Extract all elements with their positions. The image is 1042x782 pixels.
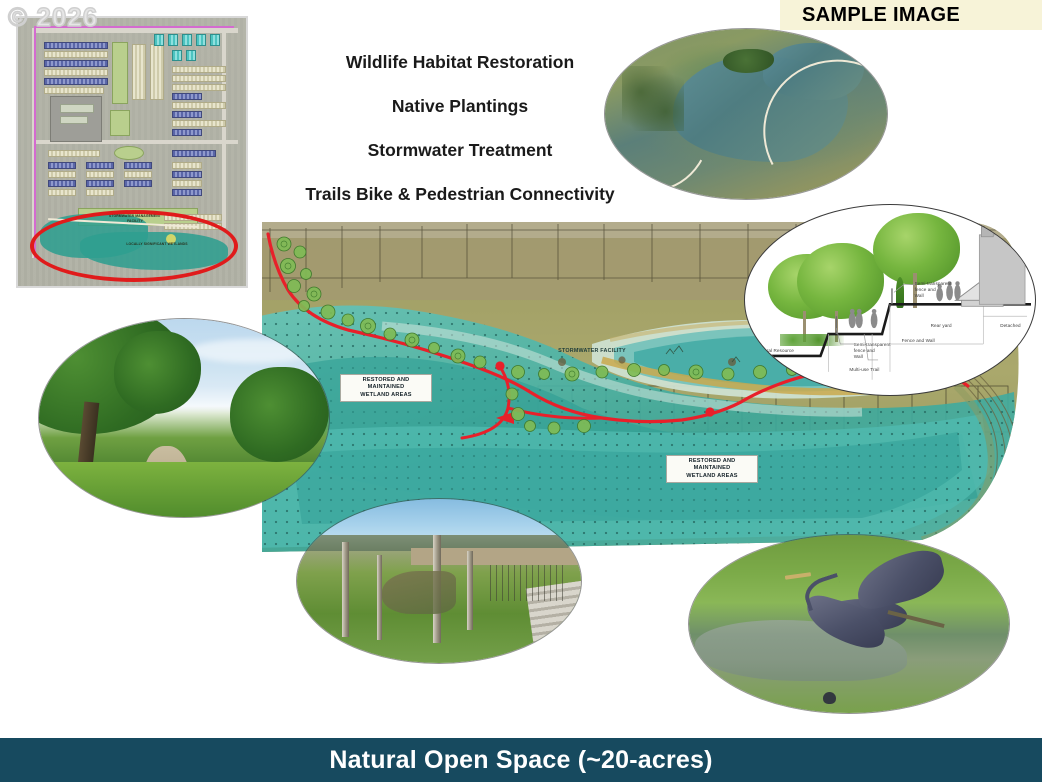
section-label-natural-resource: Natural Resource (757, 348, 794, 354)
inset-housing-row (172, 111, 202, 118)
inset-housing-row (44, 87, 104, 94)
heron-wing-upper (851, 546, 949, 613)
snags-swale (382, 571, 456, 614)
inset-housing-row (150, 44, 164, 100)
oak-photo-content (39, 319, 329, 517)
heron-beak (785, 572, 811, 580)
inset-housing-row (44, 69, 108, 76)
inset-housing-row (172, 120, 226, 127)
inset-open-green (112, 42, 128, 104)
inset-housing-row (44, 51, 108, 58)
inset-housing-row (86, 162, 114, 169)
slide-root: RESTORED AND MAINTAINED WETLAND AREAS ST… (0, 0, 1042, 782)
inset-highlight-ellipse (30, 210, 238, 282)
inset-housing-row (172, 189, 202, 196)
inset-housing-row (86, 180, 114, 187)
inset-housing-row (48, 171, 76, 178)
inset-housing-row (172, 150, 216, 157)
inset-housing-row (172, 50, 182, 61)
section-grade-profile (745, 205, 1035, 396)
plan-label-wetland-east: RESTORED AND MAINTAINED WETLAND AREAS (666, 455, 758, 483)
inset-housing-row (172, 66, 226, 73)
oak-meadow-grass (39, 462, 329, 518)
section-label-semi-transparent-fence-lower: Semi-transparent fence and Wall (854, 342, 891, 360)
plan-label-stormwater-facility: STORMWATER FACILITY (544, 346, 640, 356)
inset-housing-row (48, 180, 76, 187)
inset-housing-row (48, 189, 76, 196)
heron-photo-content (689, 535, 1009, 713)
inset-housing-row (124, 162, 152, 169)
inset-housing-row (168, 34, 178, 46)
inset-housing-row (172, 102, 226, 109)
section-label-detached: Detached (1000, 323, 1020, 329)
oak-canopy-secondary (114, 331, 201, 414)
bottom-title-banner: Natural Open Space (~20-acres) (0, 738, 1042, 782)
inset-housing-row (44, 78, 108, 85)
plan-label-wetland-west: RESTORED AND MAINTAINED WETLAND AREAS (340, 374, 432, 402)
habitat-snag-pole (467, 551, 472, 630)
inset-housing-row (44, 60, 108, 67)
inset-park-green (110, 110, 130, 136)
inset-housing-row (86, 171, 114, 178)
inset-housing-row (44, 42, 108, 49)
aerial-stormwater-pond-photo (604, 28, 888, 200)
inset-road-right (222, 28, 226, 228)
inset-civic-building (60, 116, 88, 124)
inset-housing-row (172, 162, 202, 169)
snags-photo-content (297, 499, 581, 663)
sample-image-label: SAMPLE IMAGE (802, 4, 960, 27)
inset-housing-row (210, 34, 220, 46)
inset-housing-row (172, 93, 202, 100)
inset-housing-row (172, 84, 226, 91)
inset-housing-row (124, 171, 152, 178)
page-title: Natural Open Space (~20-acres) (329, 746, 712, 775)
inset-housing-row (86, 189, 114, 196)
inset-plaza-green (114, 146, 144, 160)
great-blue-heron-photo (688, 534, 1010, 714)
trail-cross-section-diagram: Semi-transparent fence and Wall Semi-tra… (744, 204, 1036, 396)
inset-housing-row (124, 180, 152, 187)
section-label-rear-yard: Rear yard (931, 323, 952, 329)
inset-civic-building (60, 104, 94, 113)
section-label-fence-and-wall: Fence and Wall (902, 338, 935, 344)
inset-housing-row (196, 34, 206, 46)
inset-housing-row (172, 171, 202, 178)
inset-boundary-line-left (34, 26, 36, 258)
oak-tree-trail-photo (38, 318, 330, 518)
inset-housing-row (186, 50, 196, 61)
inset-housing-row (48, 162, 76, 169)
copyright-watermark: © 2026 (8, 2, 98, 33)
aerial-shrub-cluster (622, 66, 684, 131)
inset-housing-row (172, 75, 226, 82)
native-planting-restoration-photo (296, 498, 582, 664)
inset-housing-row (132, 44, 146, 100)
site-masterplan-inset[interactable]: STORMWATER MANAGEMENT FACILITY LOCALLY S… (16, 16, 248, 288)
habitat-snag-pole (342, 542, 348, 637)
inset-housing-row (48, 150, 100, 157)
inset-housing-row (182, 34, 192, 46)
inset-housing-row (154, 34, 164, 46)
sample-image-banner: SAMPLE IMAGE (780, 0, 1042, 30)
inset-housing-row (172, 129, 202, 136)
snags-fence (490, 565, 564, 601)
inset-housing-row (172, 180, 202, 187)
heron-duckling (823, 692, 836, 704)
aerial-photo-content (605, 29, 887, 199)
section-label-semi-transparent-fence-upper: Semi-transparent fence and Wall (915, 281, 952, 299)
oak-cloud (190, 339, 318, 363)
oak-canopy-right (230, 367, 329, 462)
section-label-multi-use-trail: Multi-use Trail (849, 367, 879, 373)
